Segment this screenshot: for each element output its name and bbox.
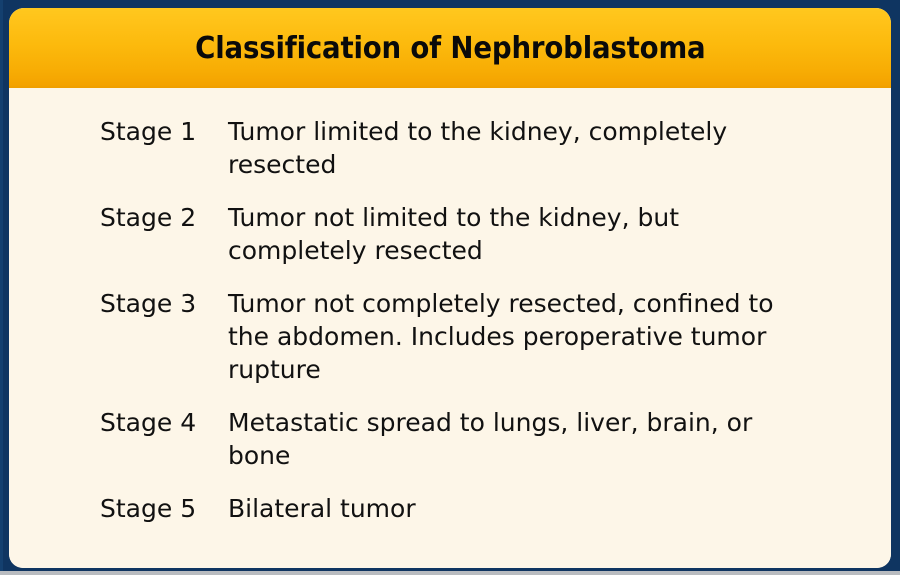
- list-item: Stage 2 Tumor not limited to the kidney,…: [9, 201, 891, 287]
- page-title: Classification of Nephroblastoma: [195, 31, 705, 66]
- stage-description: Tumor limited to the kidney, completely …: [228, 115, 804, 181]
- stage-label: Stage 3: [100, 287, 228, 320]
- stage-description: Tumor not completely resected, confined …: [228, 287, 804, 386]
- bottom-edge-strip: [0, 571, 900, 575]
- stage-label: Stage 1: [100, 115, 228, 148]
- list-item: Stage 1 Tumor limited to the kidney, com…: [9, 115, 891, 201]
- card-body: Stage 1 Tumor limited to the kidney, com…: [9, 88, 891, 568]
- stage-label: Stage 2: [100, 201, 228, 234]
- stage-list: Stage 1 Tumor limited to the kidney, com…: [9, 115, 891, 545]
- card-header: Classification of Nephroblastoma: [9, 8, 891, 88]
- slide-frame: Classification of Nephroblastoma Stage 1…: [0, 0, 900, 575]
- list-item: Stage 5 Bilateral tumor: [9, 492, 891, 545]
- stage-label: Stage 4: [100, 406, 228, 439]
- list-item: Stage 3 Tumor not completely resected, c…: [9, 287, 891, 406]
- stage-description: Bilateral tumor: [228, 492, 804, 525]
- stage-description: Tumor not limited to the kidney, but com…: [228, 201, 804, 267]
- stage-description: Metastatic spread to lungs, liver, brain…: [228, 406, 804, 472]
- classification-card: Classification of Nephroblastoma Stage 1…: [9, 8, 891, 568]
- list-item: Stage 4 Metastatic spread to lungs, live…: [9, 406, 891, 492]
- stage-label: Stage 5: [100, 492, 228, 525]
